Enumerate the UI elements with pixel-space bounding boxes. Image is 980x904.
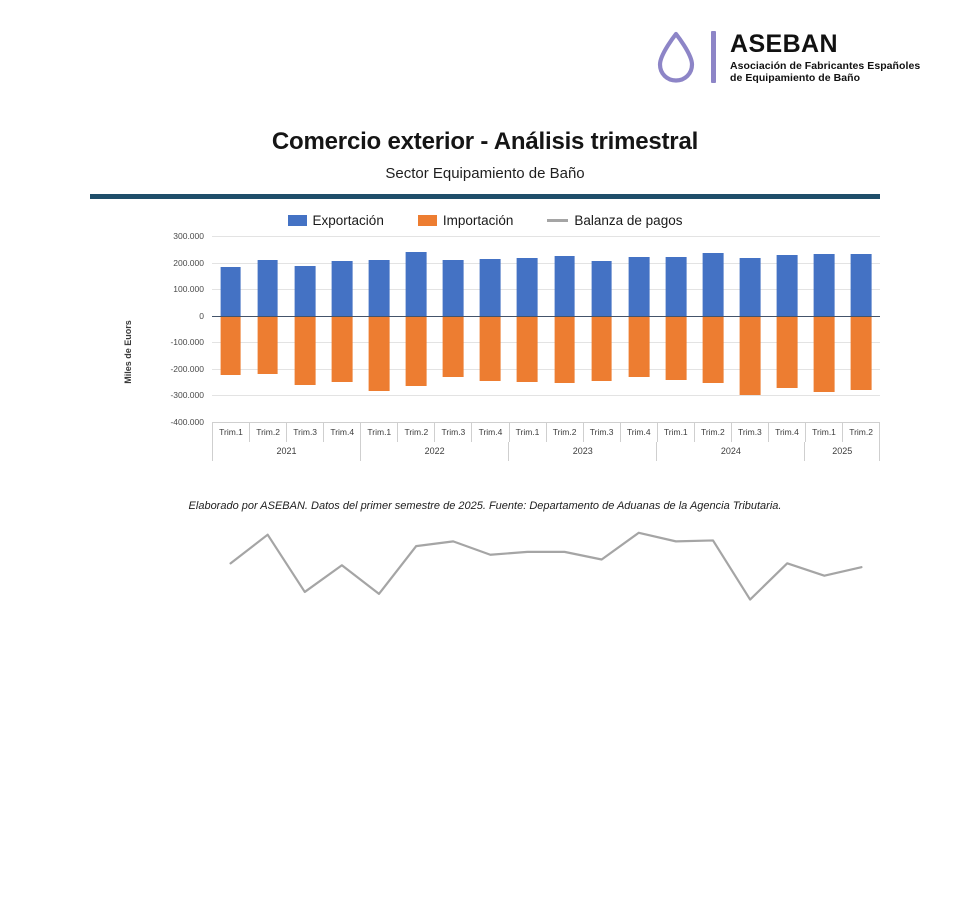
chart-card: Comercio exterior - Análisis trimestral … bbox=[90, 128, 880, 528]
title-divider-rule bbox=[90, 194, 880, 199]
y-axis-tick-label: 0 bbox=[199, 311, 204, 321]
legend-label-exportacion: Exportación bbox=[313, 213, 384, 228]
legend-label-balanza: Balanza de pagos bbox=[574, 213, 682, 228]
y-axis-tick-label: -200.000 bbox=[170, 364, 204, 374]
brand-tagline-line2: de Equipamiento de Baño bbox=[730, 72, 920, 84]
brand-text-block: ASEBAN Asociación de Fabricantes Español… bbox=[730, 30, 920, 84]
y-axis-tick-label: -400.000 bbox=[170, 417, 204, 427]
legend-label-importacion: Importación bbox=[443, 213, 514, 228]
chart-legend: Exportación Importación Balanza de pagos bbox=[90, 213, 880, 228]
plot-area-wrapper: Miles de Euors 300.000200.000100.0000-10… bbox=[90, 236, 880, 468]
legend-item-importacion[interactable]: Importación bbox=[418, 213, 514, 228]
y-axis-tick-labels: 300.000200.000100.0000-100.000-200.000-3… bbox=[126, 236, 208, 422]
y-axis-tick-label: 300.000 bbox=[173, 231, 204, 241]
legend-item-exportacion[interactable]: Exportación bbox=[288, 213, 384, 228]
legend-swatch-exportacion bbox=[288, 215, 307, 226]
water-drop-icon bbox=[655, 31, 697, 83]
chart-title: Comercio exterior - Análisis trimestral bbox=[90, 128, 880, 156]
legend-item-balanza[interactable]: Balanza de pagos bbox=[547, 213, 682, 228]
brand-header: ASEBAN Asociación de Fabricantes Español… bbox=[655, 30, 920, 84]
plot-area bbox=[212, 236, 880, 422]
y-axis-tick-label: 200.000 bbox=[173, 258, 204, 268]
brand-name: ASEBAN bbox=[730, 30, 920, 60]
brand-tagline-line1: Asociación de Fabricantes Españoles bbox=[730, 60, 920, 72]
balanza-line-series bbox=[212, 236, 880, 904]
y-axis-tick-label: -100.000 bbox=[170, 337, 204, 347]
chart-subtitle: Sector Equipamiento de Baño bbox=[90, 165, 880, 182]
y-axis-tick-label: -300.000 bbox=[170, 390, 204, 400]
legend-swatch-importacion bbox=[418, 215, 437, 226]
brand-divider bbox=[711, 31, 716, 83]
legend-line-balanza bbox=[547, 219, 568, 222]
y-axis-tick-label: 100.000 bbox=[173, 284, 204, 294]
balanza-line-path bbox=[231, 533, 862, 600]
